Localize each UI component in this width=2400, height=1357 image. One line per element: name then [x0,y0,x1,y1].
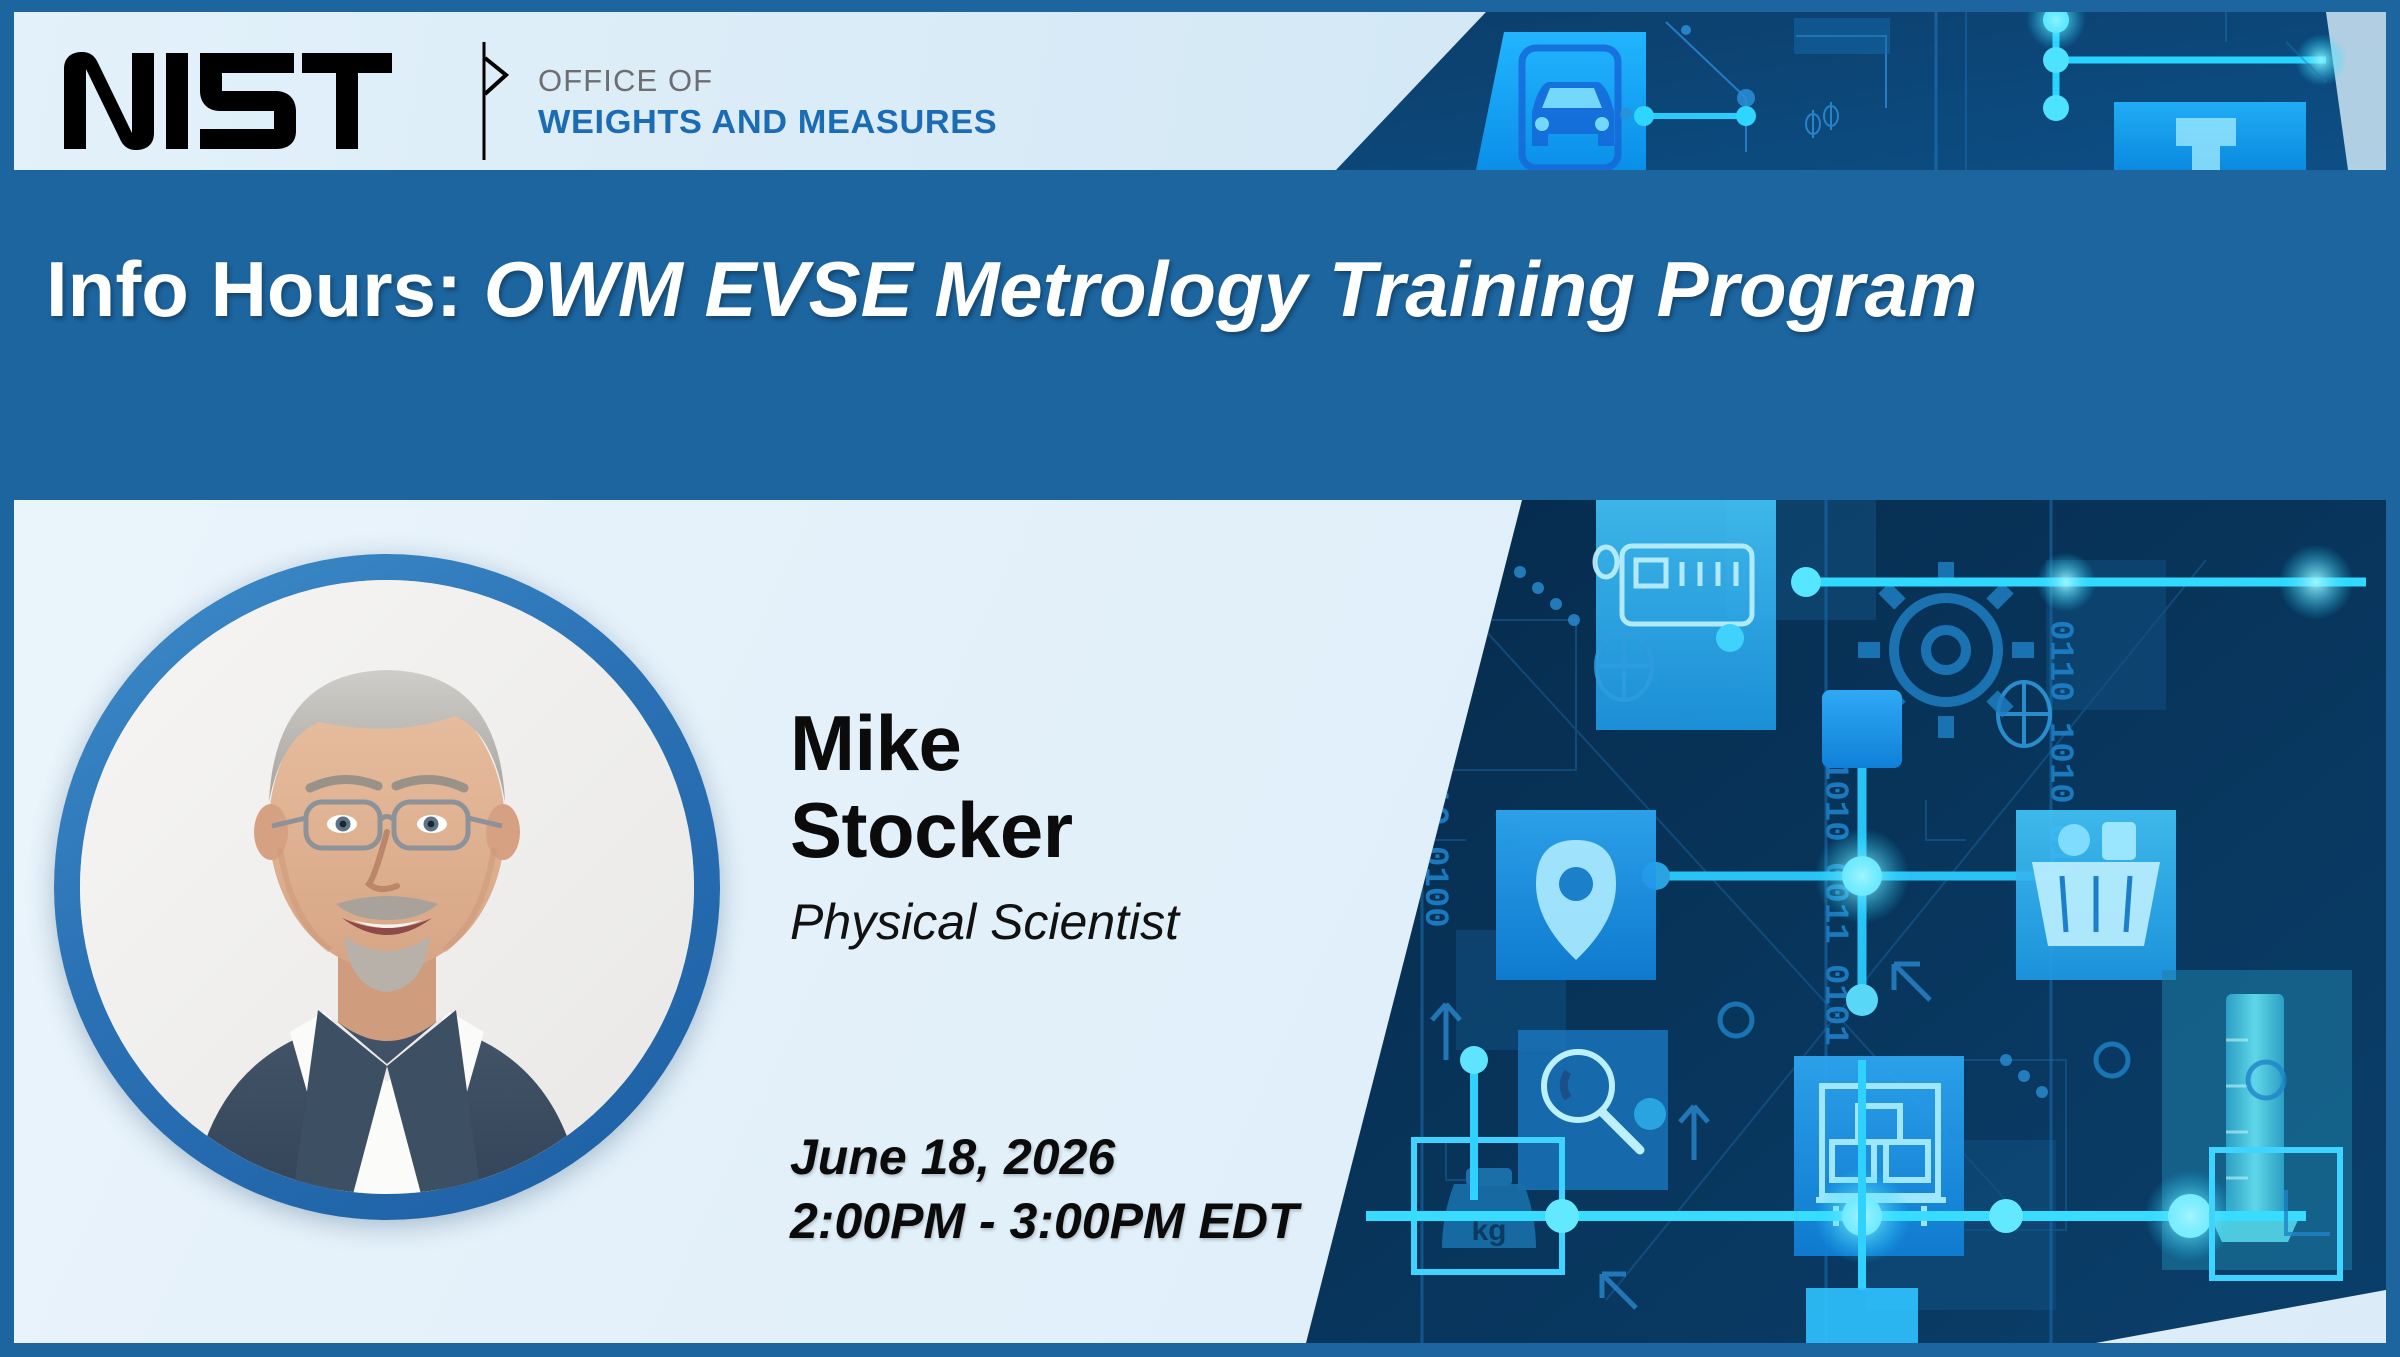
header-tech-graphic: 101101 [1326,12,2386,170]
magnifier-icon [1518,1030,1668,1190]
nist-wordmark-icon [62,51,462,151]
headshot-illustration [80,580,694,1194]
page-title: Info Hours: OWM EVSE Metrology Training … [46,244,1977,335]
title-banner: Info Hours: OWM EVSE Metrology Training … [0,170,2400,490]
avatar [54,554,720,1220]
office-of-label: OFFICE OF [538,65,980,96]
main-content-panel: Mike Stocker Physical Scientist June 18,… [14,500,2386,1343]
weights-and-measures-label: WEIGHTS AND MEASURES [538,105,997,138]
nist-owm-logo: OFFICE OF WEIGHTS AND MEASURES [62,42,980,160]
location-pin-icon [1496,810,1656,980]
header-logo-bar: OFFICE OF WEIGHTS AND MEASURES [14,12,2386,170]
speaker-first-name: Mike [790,700,1550,787]
ev-charging-car-icon [1476,32,1646,170]
title-emphasis: OWM EVSE Metrology Training Program [484,245,1978,333]
upload-box-icon [2114,102,2306,170]
portrait-photo [80,580,694,1194]
title-prefix: Info Hours: [46,245,462,333]
event-flyer: OFFICE OF WEIGHTS AND MEASURES [0,0,2400,1357]
chevron-right-icon [480,42,516,160]
event-date: June 18, 2026 [790,1125,1298,1189]
shopping-basket-icon [2016,810,2176,980]
main-tech-graphic: 0110 0101 0110 0100 1010 0011 0101 0110 … [1306,500,2386,1343]
event-datetime: June 18, 2026 2:00PM - 3:00PM EDT [790,1125,1298,1253]
event-time: 2:00PM - 3:00PM EDT [790,1189,1298,1253]
